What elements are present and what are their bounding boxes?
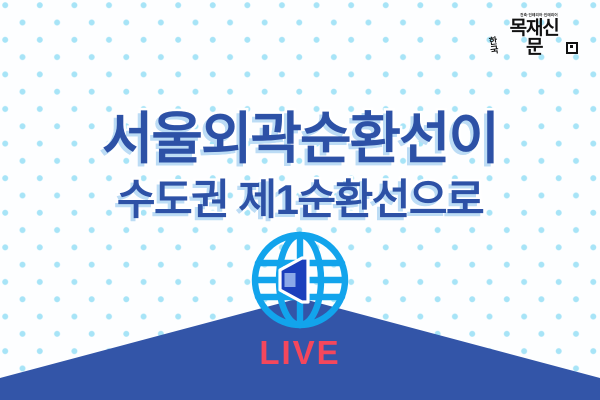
headline-line2-container: 수도권 제1순환선으로 [0,166,600,227]
live-broadcast-emblem [250,230,350,330]
broadcast-title-card: 건축·인테리어·인테리어 한국 목재신문 서울외곽순환선이 수도권 제1순환선으… [0,0,600,400]
headline-line1-container: 서울외곽순환선이 [0,94,600,175]
headline-line2: 수도권 제1순환선으로 [117,166,483,227]
publisher-logo: 건축·인테리어·인테리어 한국 목재신문 [486,14,578,57]
logo-wordmark-row: 한국 목재신문 [486,19,578,57]
live-badge-label: LIVE [0,334,600,372]
headline-line1: 서울외곽순환선이 [102,94,498,175]
logo-main-text: 목재신문 [503,19,565,57]
square-block-icon [566,42,578,54]
megaphone-inner-square [285,273,296,287]
logo-prefix: 한국 [485,36,503,56]
